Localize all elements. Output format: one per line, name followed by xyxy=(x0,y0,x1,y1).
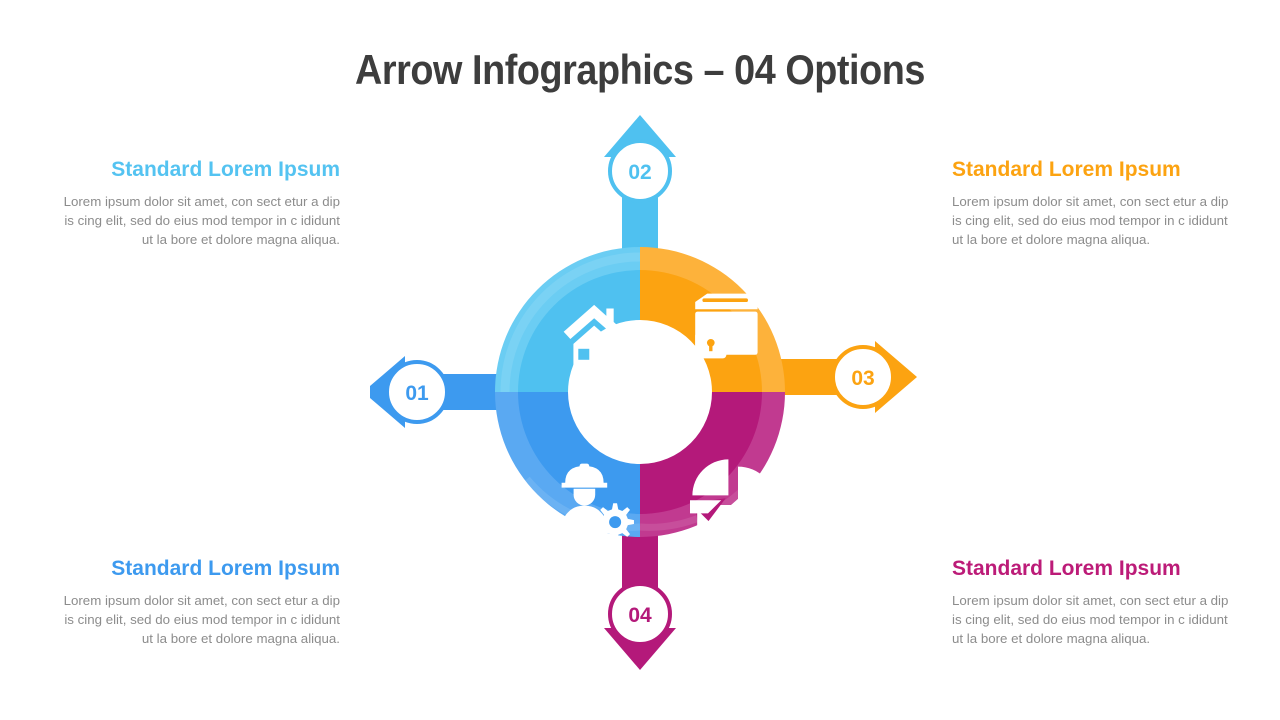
arrow-badge-04: 04 xyxy=(628,604,652,627)
arrow-01[interactable]: 01 xyxy=(370,356,503,428)
arrow-04[interactable]: 04 xyxy=(604,530,676,670)
segment-text-block-01: Standard Lorem Ipsum Lorem ipsum dolor s… xyxy=(62,557,340,649)
segment-body-01: Lorem ipsum dolor sit amet, con sect etu… xyxy=(62,592,340,649)
segment-text-block-02: Standard Lorem Ipsum Lorem ipsum dolor s… xyxy=(62,158,340,250)
arrow-02[interactable]: 02 xyxy=(604,115,676,255)
arrow-03[interactable]: 03 xyxy=(777,341,917,413)
arrow-badge-03: 03 xyxy=(851,367,874,390)
segment-body-02: Lorem ipsum dolor sit amet, con sect etu… xyxy=(62,193,340,250)
segment-heading-01: Standard Lorem Ipsum xyxy=(62,557,340,581)
segment-body-04: Lorem ipsum dolor sit amet, con sect etu… xyxy=(952,592,1230,649)
segment-body-03: Lorem ipsum dolor sit amet, con sect etu… xyxy=(952,193,1230,250)
segment-heading-03: Standard Lorem Ipsum xyxy=(952,158,1230,182)
arrow-badge-02: 02 xyxy=(628,161,651,184)
segment-text-block-03: Standard Lorem Ipsum Lorem ipsum dolor s… xyxy=(952,158,1230,250)
arrow-badge-01: 01 xyxy=(405,382,429,405)
segment-text-block-04: Standard Lorem Ipsum Lorem ipsum dolor s… xyxy=(952,557,1230,649)
segment-heading-02: Standard Lorem Ipsum xyxy=(62,158,340,182)
segment-heading-04: Standard Lorem Ipsum xyxy=(952,557,1230,581)
page-title: Arrow Infographics – 04 Options xyxy=(64,46,1216,94)
secure-package-icon xyxy=(695,294,757,359)
donut-wheel-graphic: 02 04 01 03 xyxy=(370,105,930,685)
